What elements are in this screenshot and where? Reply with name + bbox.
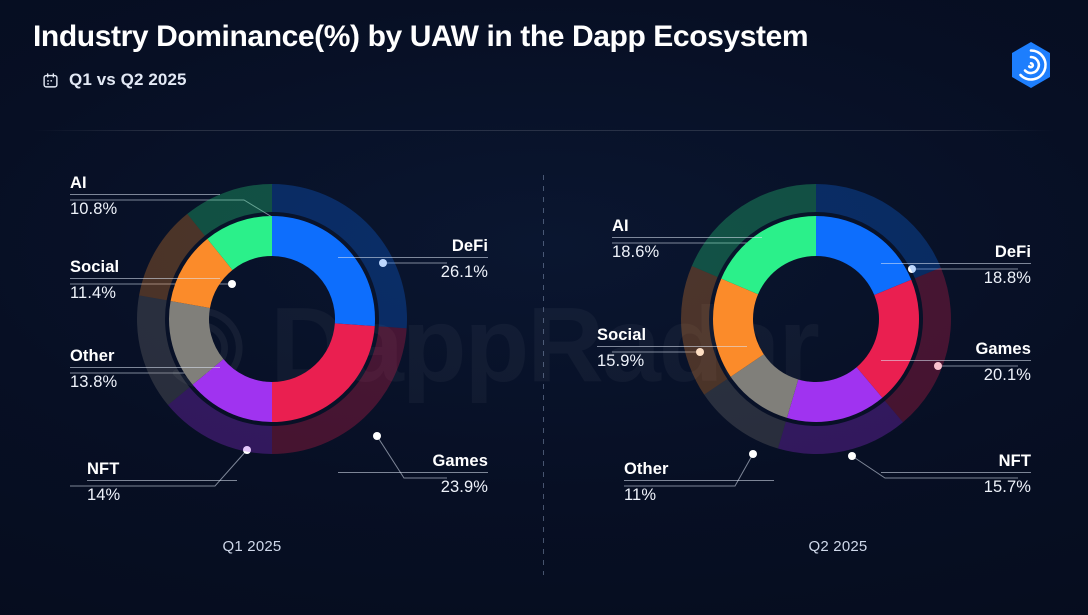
- donut-chart-q1[interactable]: [137, 184, 407, 454]
- chart-panel-q1: Q1 2025: [0, 138, 544, 615]
- subtitle-row: Q1 vs Q2 2025: [42, 70, 187, 90]
- dappradar-logo-icon[interactable]: [1006, 40, 1056, 90]
- donut-svg-q2: [681, 184, 951, 454]
- header-divider: [33, 130, 1055, 131]
- page-subtitle: Q1 vs Q2 2025: [69, 70, 187, 90]
- donut-inner-ring-q1: [169, 216, 375, 422]
- page-title: Industry Dominance(%) by UAW in the Dapp…: [33, 20, 808, 54]
- header: Industry Dominance(%) by UAW in the Dapp…: [0, 0, 1088, 138]
- chart-caption-q1: Q1 2025: [0, 538, 544, 555]
- calendar-icon: [42, 72, 59, 89]
- donut-inner-ring-q2: [713, 216, 919, 422]
- chart-caption-q2: Q2 2025: [544, 538, 1088, 555]
- donut-chart-q2[interactable]: [681, 184, 951, 454]
- page-root: DappRadar Industry Dominance(%) by UAW i…: [0, 0, 1088, 615]
- donut-svg-q1: [137, 184, 407, 454]
- chart-panel-q2: Q2 2025: [544, 138, 1088, 615]
